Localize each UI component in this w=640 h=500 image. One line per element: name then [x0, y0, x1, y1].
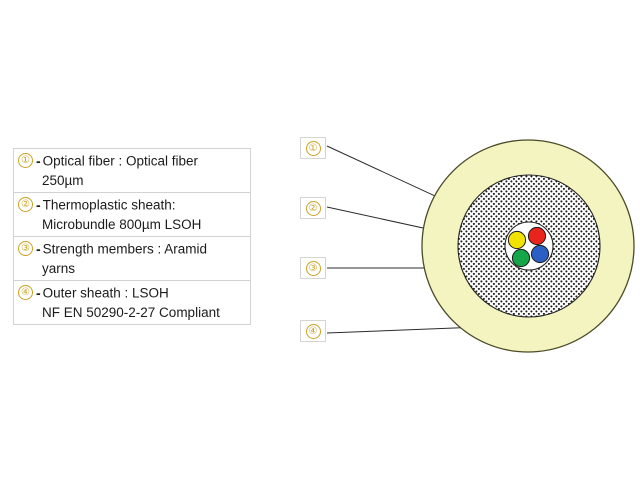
legend-dash-1: - — [33, 153, 43, 169]
fiber-blue — [531, 245, 548, 262]
diagram-canvas: ① ② ③ ④ ①-Optical fiber : Optical fiber … — [0, 0, 640, 500]
legend-dash-4: - — [33, 285, 43, 301]
legend: ①-Optical fiber : Optical fiber 250µm ②-… — [13, 148, 251, 325]
legend-text-4-line2: NF EN 50290-2-27 Compliant — [18, 305, 246, 320]
callout-number-1: ① — [306, 141, 321, 156]
legend-dash-3: - — [33, 241, 43, 257]
legend-item-outer-sheath[interactable]: ④-Outer sheath : LSOH NF EN 50290-2-27 C… — [13, 280, 251, 325]
legend-number-1: ① — [18, 153, 33, 168]
legend-text-3-line1: Strength members : Aramid — [43, 241, 207, 256]
legend-text-2-line2: Microbundle 800µm LSOH — [18, 217, 246, 232]
callout-marker-3[interactable]: ③ — [300, 257, 326, 279]
legend-number-4: ④ — [18, 285, 33, 300]
callout-marker-1[interactable]: ① — [300, 137, 326, 159]
legend-text-3-line2: yarns — [18, 261, 246, 276]
fiber-red — [528, 227, 545, 244]
legend-text-1-line1: Optical fiber : Optical fiber — [43, 153, 198, 168]
legend-number-3: ③ — [18, 241, 33, 256]
callout-number-3: ③ — [306, 261, 321, 276]
legend-number-2: ② — [18, 197, 33, 212]
legend-text-2-line1: Thermoplastic sheath: — [43, 197, 176, 212]
legend-item-strength-members[interactable]: ③-Strength members : Aramid yarns — [13, 236, 251, 281]
legend-text-4-line1: Outer sheath : LSOH — [43, 285, 169, 300]
fiber-green — [512, 249, 529, 266]
legend-text-1-line2: 250µm — [18, 173, 246, 188]
legend-item-optical-fiber[interactable]: ①-Optical fiber : Optical fiber 250µm — [13, 148, 251, 193]
legend-dash-2: - — [33, 197, 43, 213]
callout-number-4: ④ — [306, 324, 321, 339]
fiber-yellow — [508, 231, 525, 248]
callout-number-2: ② — [306, 201, 321, 216]
callout-marker-2[interactable]: ② — [300, 197, 326, 219]
callout-marker-4[interactable]: ④ — [300, 320, 326, 342]
legend-item-thermoplastic-sheath[interactable]: ②-Thermoplastic sheath: Microbundle 800µ… — [13, 192, 251, 237]
leader-line-4 — [327, 327, 480, 333]
